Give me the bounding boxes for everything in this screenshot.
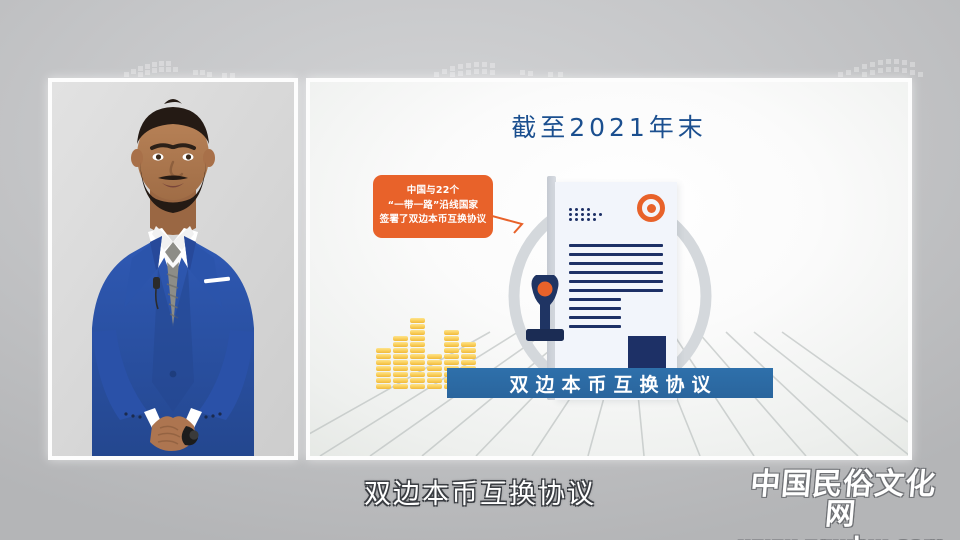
- coin: [427, 372, 442, 377]
- document-dot: [569, 213, 572, 216]
- coin: [410, 324, 425, 329]
- document-dot-pattern: [569, 198, 605, 213]
- document-dot: [581, 213, 584, 216]
- coin: [444, 342, 459, 347]
- coin: [376, 366, 391, 371]
- document-dot: [575, 218, 578, 221]
- coin: [393, 342, 408, 347]
- document-dot: [593, 213, 596, 216]
- coin: [427, 360, 442, 365]
- coin: [444, 348, 459, 353]
- backdrop-pixel-arc-center: [430, 50, 580, 80]
- coin: [393, 360, 408, 365]
- coin: [393, 372, 408, 377]
- coin: [376, 384, 391, 389]
- coin: [393, 348, 408, 353]
- coin: [427, 378, 442, 383]
- document-dot: [599, 213, 602, 216]
- coin-stack: [393, 336, 408, 390]
- coin: [444, 360, 459, 365]
- document-dot: [569, 218, 572, 221]
- coin: [410, 348, 425, 353]
- coin: [410, 378, 425, 383]
- coin: [393, 378, 408, 383]
- document-text-line: [569, 307, 621, 310]
- slide-title: 截至2021年末: [310, 108, 908, 144]
- coin: [444, 336, 459, 341]
- callout-pointer: [492, 212, 528, 234]
- coin: [393, 354, 408, 359]
- coin: [376, 348, 391, 353]
- coin: [410, 354, 425, 359]
- coin: [393, 384, 408, 389]
- document-text-line: [569, 262, 663, 265]
- target-seal-icon: [637, 194, 665, 222]
- document-text-line: [569, 316, 621, 319]
- callout-line-2: “一带一路”沿线国家: [379, 199, 487, 214]
- coin: [461, 348, 476, 353]
- coin: [427, 354, 442, 359]
- coin: [461, 342, 476, 347]
- coin: [410, 360, 425, 365]
- coin: [376, 360, 391, 365]
- coin: [410, 366, 425, 371]
- coin: [410, 330, 425, 335]
- presenter-avatar: [52, 82, 294, 456]
- backdrop-pixel-arc-left: [118, 52, 248, 80]
- coin: [444, 354, 459, 359]
- watermark-url: www.zgwhw.com: [736, 535, 948, 540]
- coin-stack: [427, 354, 442, 390]
- document-text-lines: [569, 244, 663, 334]
- document-dot: [575, 213, 578, 216]
- coin: [410, 318, 425, 323]
- coin: [410, 342, 425, 347]
- coin: [427, 384, 442, 389]
- document-dot: [587, 213, 590, 216]
- watermark-site-name: 中国民俗文化网: [733, 470, 950, 530]
- backdrop-pixel-arc-right: [830, 48, 950, 80]
- coin: [427, 366, 442, 371]
- coin: [376, 378, 391, 383]
- document-text-line: [569, 289, 663, 292]
- banner-label: 双边本币互换协议: [447, 368, 773, 398]
- coin-stack: [410, 318, 425, 390]
- document-text-line: [569, 298, 621, 301]
- callout-bubble: 中国与22个 “一带一路”沿线国家 签署了双边本币互换协议: [373, 175, 493, 238]
- callout-line-1: 中国与22个: [379, 184, 487, 199]
- coin: [461, 360, 476, 365]
- presenter-panel: [48, 78, 298, 460]
- callout-line-3: 签署了双边本币互换协议: [379, 213, 487, 228]
- coin: [410, 384, 425, 389]
- watermark: 中国民俗文化网 www.zgwhw.com: [736, 470, 948, 540]
- rubber-stamp-icon: [522, 275, 568, 353]
- video-frame: 中国与22个 “一带一路”沿线国家 签署了双边本币互换协议 双边本币互换协议 截…: [0, 0, 960, 540]
- coin: [410, 372, 425, 377]
- document-text-line: [569, 271, 663, 274]
- coin: [410, 336, 425, 341]
- coin: [376, 354, 391, 359]
- document-text-line: [569, 325, 621, 328]
- document-text-line: [569, 244, 663, 247]
- coin: [376, 372, 391, 377]
- coin: [461, 354, 476, 359]
- document-dot: [581, 218, 584, 221]
- coin: [444, 330, 459, 335]
- document-dot: [593, 218, 596, 221]
- coin: [393, 366, 408, 371]
- document-dot: [587, 218, 590, 221]
- coin-stack: [376, 348, 391, 390]
- slide-panel: 中国与22个 “一带一路”沿线国家 签署了双边本币互换协议 双边本币互换协议 截…: [306, 78, 912, 460]
- document-text-line: [569, 280, 663, 283]
- coin: [393, 336, 408, 341]
- document-text-line: [569, 253, 663, 256]
